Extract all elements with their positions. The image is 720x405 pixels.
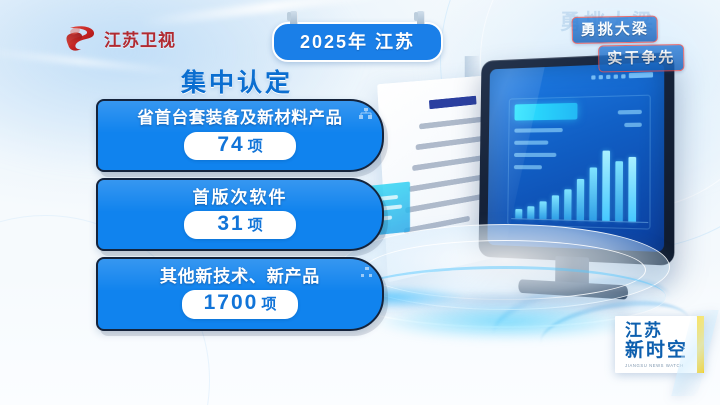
chart-bar	[564, 189, 572, 220]
list-item-value: 1700	[204, 291, 259, 315]
list-item-value: 74	[217, 133, 244, 157]
list-item-label: 首版次软件	[112, 187, 368, 208]
list-item-unit: 项	[248, 214, 263, 235]
list-item-label: 省首台套装备及新材料产品	[112, 108, 368, 129]
program-name-line1: 江苏	[625, 322, 688, 340]
document-heading-bar	[429, 96, 476, 109]
broadcast-graphic-stage: 江苏卫视 勇挑大梁 勇挑大梁 实干争先 2025年 江苏 集中认定	[0, 0, 720, 405]
statistics-list: 省首台套装备及新材料产品 74 项 首版次软件 31 项	[96, 99, 384, 337]
chart-bar	[602, 151, 610, 221]
program-watermark-accent	[697, 316, 704, 373]
list-item[interactable]: 省首台套装备及新材料产品 74 项	[96, 99, 384, 172]
status-badge: 74 项	[184, 132, 296, 160]
chart-bar	[577, 179, 585, 220]
infographic-scene	[372, 52, 702, 352]
list-item-unit: 项	[261, 293, 276, 314]
campaign-slogan: 勇挑大梁 实干争先	[572, 15, 685, 73]
program-watermark-card: 江苏 新时空 JIANGSU NEWS WATCH	[615, 316, 697, 373]
list-item[interactable]: 其他新技术、新产品 1700 项	[96, 257, 384, 330]
channel-logo: 江苏卫视	[66, 22, 176, 54]
chart-bar	[515, 209, 522, 218]
chart-bar	[527, 206, 534, 219]
status-badge: 1700 项	[182, 290, 299, 318]
header-badge-body: 2025年 江苏	[272, 22, 443, 62]
slogan-line-2: 实干争先	[598, 44, 684, 72]
chart-bar	[615, 161, 623, 221]
clip-pin-right-icon	[417, 11, 425, 24]
clip-pin-left-icon	[290, 11, 298, 24]
screen-status-icons	[591, 72, 653, 80]
slogan-line-1: 勇挑大梁	[572, 15, 658, 43]
chart-bar	[552, 195, 559, 219]
chart-bar	[539, 201, 546, 219]
status-badge: 31 项	[184, 211, 296, 239]
program-watermark: 江苏 新时空 JIANGSU NEWS WATCH	[615, 316, 704, 373]
list-item[interactable]: 首版次软件 31 项	[96, 178, 384, 251]
page-title: 集中认定	[181, 63, 293, 99]
list-item-unit: 项	[248, 135, 263, 156]
swirl-flame-icon	[66, 22, 97, 54]
header-year-badge: 2025年 江苏	[272, 22, 443, 62]
program-name-line2: 新时空	[625, 341, 688, 361]
list-item-label: 其他新技术、新产品	[112, 266, 368, 287]
channel-logo-text: 江苏卫视	[104, 26, 176, 51]
list-item-value: 31	[217, 212, 244, 236]
screen-highlight-card	[514, 103, 577, 121]
chart-bar	[628, 157, 636, 222]
header-badge-text: 2025年 江苏	[300, 28, 415, 54]
program-name-english: JIANGSU NEWS WATCH	[625, 363, 688, 368]
chart-bar	[589, 167, 597, 220]
